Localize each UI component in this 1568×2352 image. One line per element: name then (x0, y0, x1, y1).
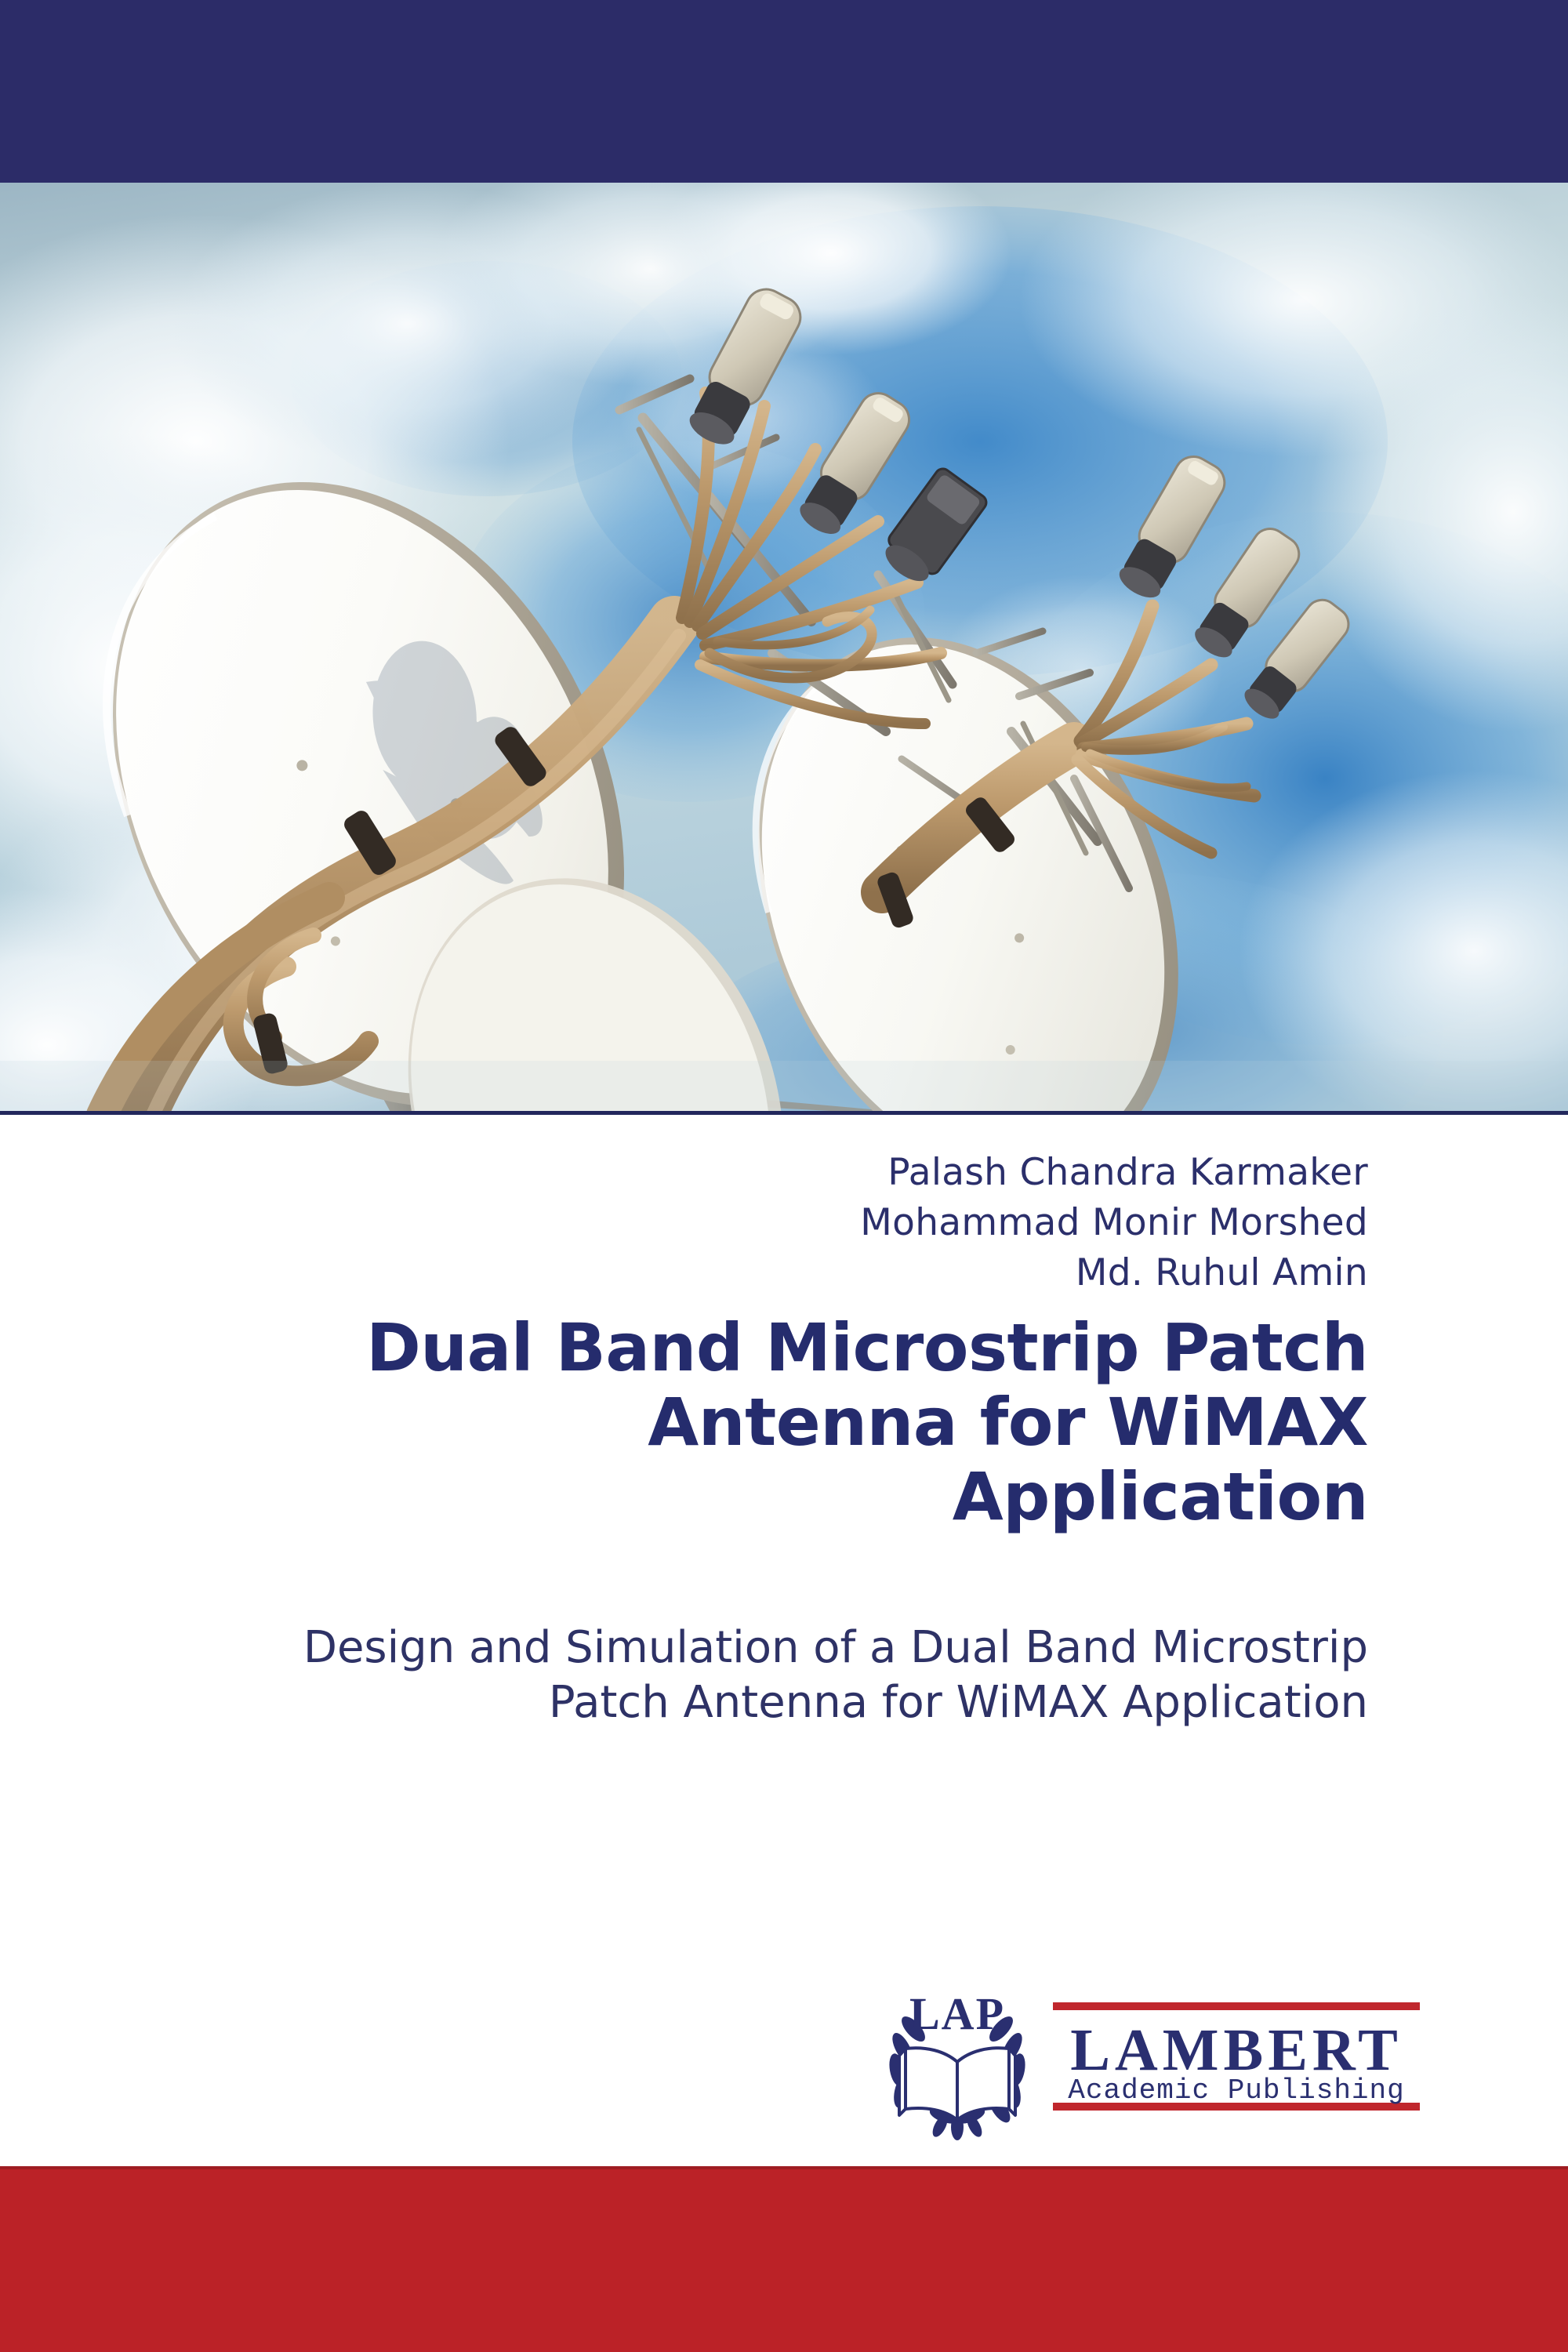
subtitle-line: Design and Simulation of a Dual Band Mic… (200, 1621, 1368, 1675)
author-list: Palash Chandra Karmaker Mohammad Monir M… (860, 1148, 1368, 1298)
publisher-logo: LAP LAMBERT Academic Publishing (882, 1984, 1431, 2140)
title-line: Dual Band Microstrip Patch (200, 1311, 1368, 1385)
title-line: Antenna for WiMAX (200, 1385, 1368, 1460)
publisher-name: LAMBERT (1070, 2017, 1403, 2083)
lap-emblem-text: LAP (909, 1988, 1005, 2039)
logo-rule-top (1053, 2002, 1420, 2010)
open-book-laurel-wreath-icon: LAP (887, 1988, 1027, 2140)
book-subtitle: Design and Simulation of a Dual Band Mic… (200, 1621, 1368, 1730)
top-navy-band (0, 0, 1568, 183)
subtitle-line: Patch Antenna for WiMAX Application (200, 1675, 1368, 1730)
author-name: Md. Ruhul Amin (860, 1248, 1368, 1298)
book-cover: Palash Chandra Karmaker Mohammad Monir M… (0, 0, 1568, 2352)
satellite-dish-photo-illustration (0, 183, 1568, 1115)
bottom-red-band (0, 2166, 1568, 2352)
title-line: Application (200, 1460, 1368, 1534)
book-title: Dual Band Microstrip Patch Antenna for W… (200, 1311, 1368, 1534)
publisher-tagline: Academic Publishing (1068, 2074, 1404, 2107)
author-name: Mohammad Monir Morshed (860, 1198, 1368, 1248)
cover-photo (0, 183, 1568, 1115)
author-name: Palash Chandra Karmaker (860, 1148, 1368, 1198)
